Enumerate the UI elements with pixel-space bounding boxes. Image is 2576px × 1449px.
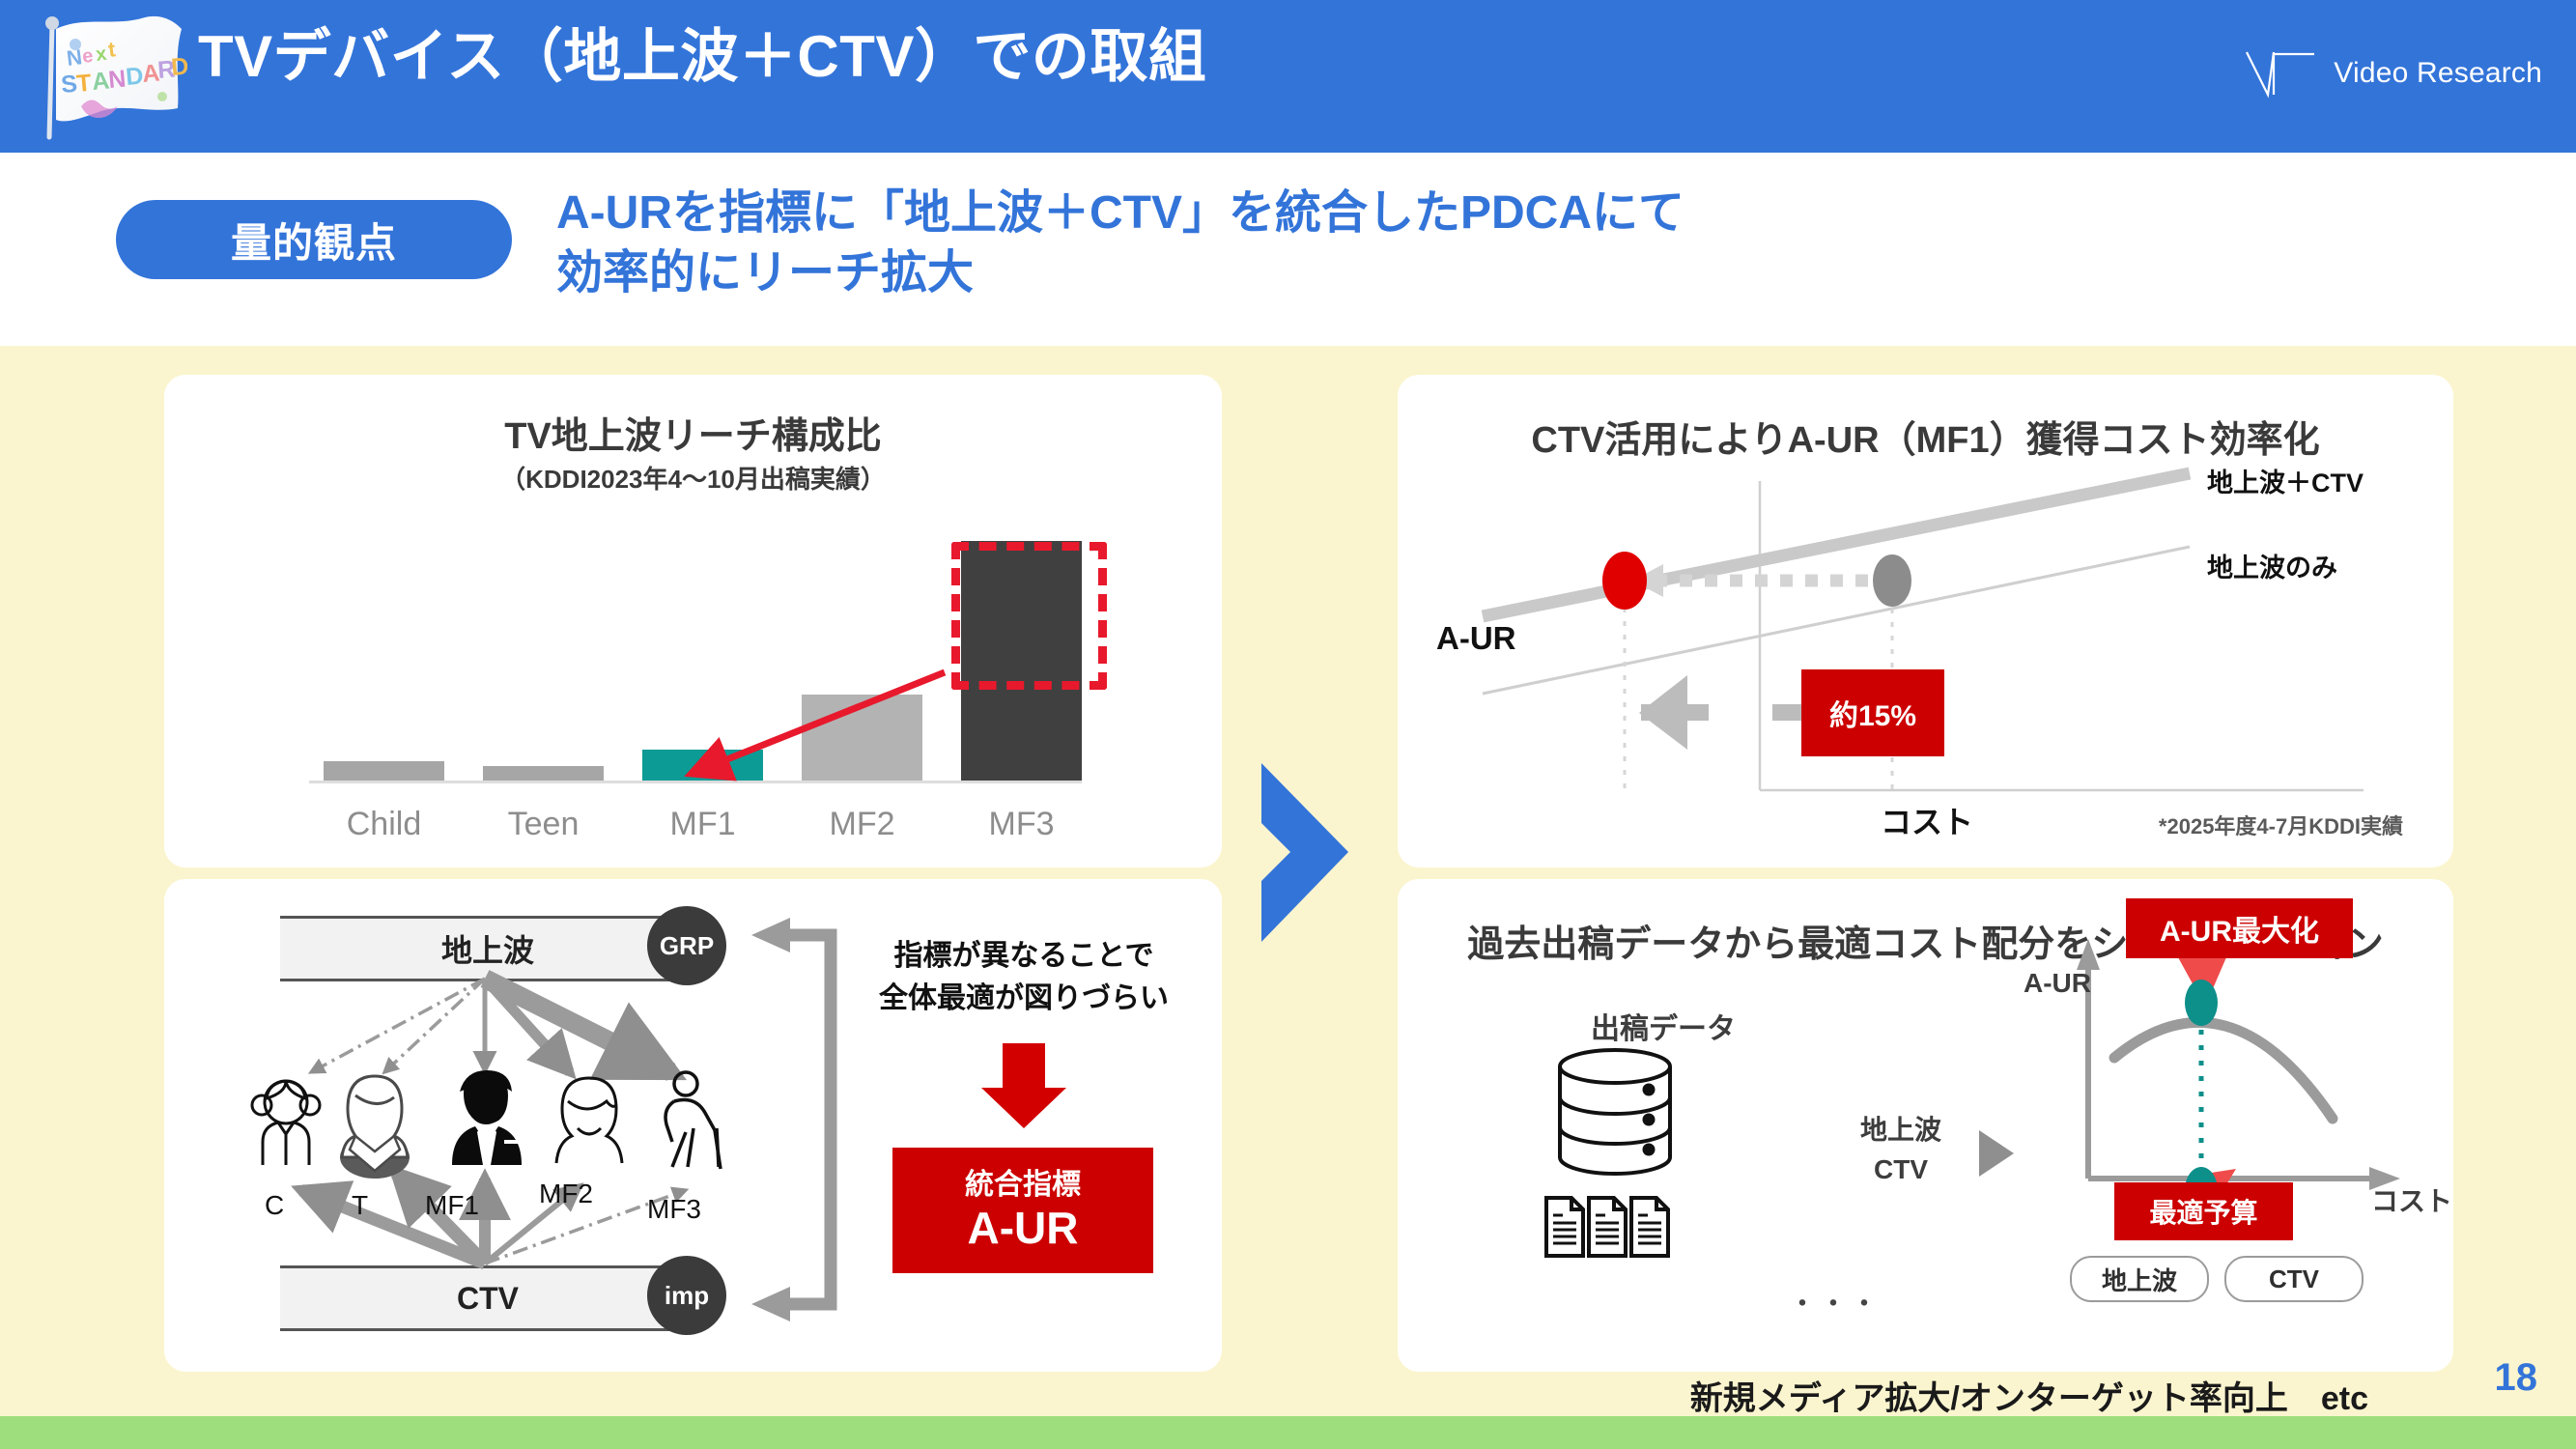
delta-badge-label: 約15% — [1829, 692, 1916, 734]
segment-label-mf2: MF2 — [539, 1179, 593, 1209]
bar-label-mf3: MF3 — [937, 806, 1106, 843]
vr-logo-icon — [2245, 48, 2320, 99]
bar-label-mf2: MF2 — [778, 806, 947, 843]
peak-label-badge: A-UR最大化 — [2126, 898, 2353, 958]
mf3-icon — [665, 1072, 721, 1169]
mismatch-note-line-1: 指標が異なることで — [840, 935, 1207, 978]
reach-bar-chart: Child Teen MF1 MF2 MF3 — [203, 520, 1183, 853]
br-x-axis-label: コスト — [2371, 1180, 2452, 1219]
segment-label-mf3: MF3 — [647, 1194, 701, 1225]
budget-label-badge: 最適予算 — [2114, 1182, 2293, 1240]
mf1-icon — [452, 1070, 522, 1165]
series-label-terrestrial-ctv: 地上波＋CTV — [2207, 462, 2364, 499]
slide-header: N e x t S T A N D A R D TVデバイス（地上波＋CT — [0, 0, 2576, 153]
tr-footnote: *2025年度4‐7月KDDI実績 — [2159, 810, 2403, 840]
budget-label-text: 最適予算 — [2149, 1192, 2257, 1231]
integrated-metric-value: A-UR — [968, 1203, 1079, 1254]
svg-text:N: N — [107, 66, 127, 94]
integrated-metric-caption: 統合指標 — [965, 1168, 1081, 1203]
next-standard-flag-icon: N e x t S T A N D A R D — [17, 2, 187, 147]
segment-icons-row — [249, 1068, 732, 1194]
marker-terrestrial-ctv — [1602, 552, 1647, 610]
panel-metric-mismatch: 地上波 GRP CTV imp — [164, 879, 1222, 1372]
bar-label-child: Child — [299, 806, 468, 843]
chip-terrestrial-label: 地上波 — [2102, 1262, 2177, 1297]
video-research-logo: Video Research — [2245, 46, 2542, 100]
tl-panel-subtitle: （KDDI2023年4〜10月出稿実績） — [164, 460, 1222, 496]
subtitle-line-1: A-URを指標に「地上波＋CTV」を統合したPDCAにて — [556, 184, 2392, 243]
segment-labels-row: C T MF1 MF2 MF3 — [249, 1190, 732, 1229]
chip-terrestrial[interactable]: 地上波 — [2070, 1256, 2209, 1302]
tr-y-axis-label: A-UR — [1436, 620, 1515, 657]
panel-cost-efficiency: CTV活用によりA-UR（MF1）獲得コスト効率化 地上波＋CTV — [1398, 375, 2453, 867]
segment-label-mf1: MF1 — [425, 1190, 479, 1221]
viewpoint-badge-label: 量的観点 — [231, 211, 397, 270]
subtitle-line-2: 効率的にリーチ拡大 — [556, 243, 2392, 303]
logo-text: Video Research — [2334, 57, 2542, 90]
br-y-axis-label: A-UR — [2024, 968, 2091, 999]
viewpoint-badge: 量的観点 — [116, 200, 512, 279]
mf2-icon — [556, 1078, 622, 1163]
mismatch-note-line-2: 全体最適が図りづらい — [840, 978, 1207, 1020]
child-icon — [252, 1081, 320, 1165]
highlight-arrow-icon — [203, 520, 1183, 853]
chip-ctv-label: CTV — [2269, 1264, 2319, 1294]
footer-note: 新規メディア拡大/オンターゲット率向上 etc — [1690, 1372, 2368, 1419]
subtitle-heading: A-URを指標に「地上波＋CTV」を統合したPDCAにて 効率的にリーチ拡大 — [556, 184, 2392, 304]
teen-icon — [340, 1076, 410, 1179]
bottom-accent-bar — [0, 1416, 2576, 1449]
svg-text:D: D — [170, 53, 187, 81]
slide-root: N e x t S T A N D A R D TVデバイス（地上波＋CT — [0, 0, 2576, 1449]
delta-badge: 約15% — [1801, 669, 1944, 756]
segment-label-t: T — [352, 1190, 368, 1221]
panel-simulation: 過去出稿データから最適コスト配分をシミュレーション 出稿データ — [1398, 879, 2453, 1372]
page-number: 18 — [2495, 1356, 2538, 1400]
bar-label-teen: Teen — [459, 806, 628, 843]
tl-panel-title: TV地上波リーチ構成比 — [164, 406, 1222, 459]
chip-ctv[interactable]: CTV — [2224, 1256, 2364, 1302]
bar-label-mf1: MF1 — [618, 806, 787, 843]
series-label-terrestrial-only: 地上波のみ — [2207, 547, 2337, 584]
svg-text:T: T — [75, 70, 93, 98]
marker-terrestrial-only — [1873, 554, 1911, 607]
segment-label-c: C — [265, 1190, 284, 1221]
cost-efficiency-chart — [1398, 375, 2453, 867]
integrated-metric-box: 統合指標 A-UR — [892, 1148, 1153, 1273]
tr-x-axis-label: コスト — [1881, 798, 1973, 842]
panel-reach-composition: TV地上波リーチ構成比 （KDDI2023年4〜10月出稿実績） C — [164, 375, 1222, 867]
flow-chevron-icon — [1256, 763, 1381, 942]
down-arrow-icon — [976, 1043, 1072, 1128]
page-title: TVデバイス（地上波＋CTV）での取組 — [198, 25, 1206, 89]
peak-label-text: A-UR最大化 — [2160, 907, 2319, 950]
mismatch-note: 指標が異なることで 全体最適が図りづらい — [840, 935, 1207, 1019]
